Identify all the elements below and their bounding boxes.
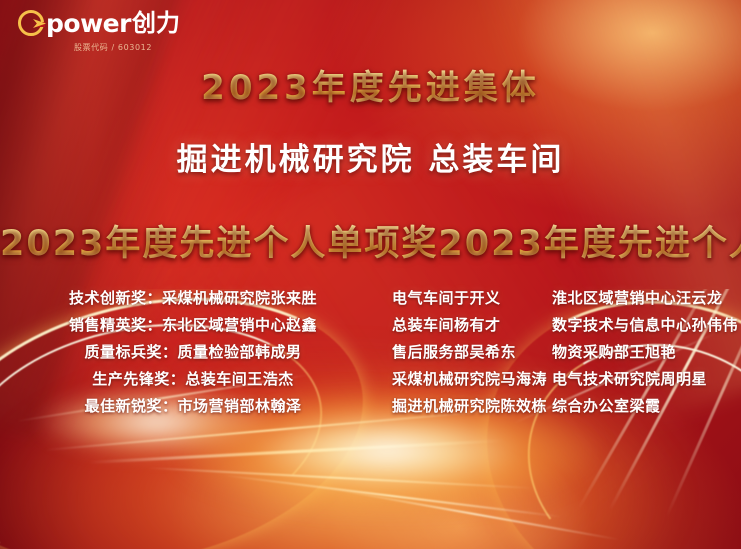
list-item: 技术创新奖：采煤机械研究院张来胜 [69,285,317,312]
page-subtitle: 掘进机械研究院 总装车间 [0,134,741,179]
list-item: 售后服务部吴希东 [392,339,552,366]
stock-code-label: 股票代码 / 603012 [18,42,208,53]
list-item: 掘进机械研究院陈效栋 [392,393,552,420]
page-title: 2023年度先进集体 [0,60,741,109]
list-row: 掘进机械研究院陈效栋 综合办公室梁霞 [392,393,741,420]
list-row: 总装车间杨有才 数字技术与信息中心孙伟伟 [392,312,741,339]
list-row: 电气车间于开义 淮北区域营销中心汪云龙 [392,285,741,312]
list-item: 物资采购部王旭艳 [552,339,741,366]
logo-wordmark: power [46,11,131,36]
list-item: 综合办公室梁霞 [552,393,741,420]
list-item: 生产先锋奖：总装车间王浩杰 [92,366,294,393]
list-item: 数字技术与信息中心孙伟伟 [552,312,741,339]
award-banner: power 创力 股票代码 / 603012 2023年度先进集体 掘进机械研究… [0,0,741,549]
list-item: 总装车间杨有才 [392,312,552,339]
list-item: 最佳新锐奖：市场营销部林翰泽 [84,393,301,420]
list-item: 销售精英奖：东北区域营销中心赵鑫 [69,312,317,339]
section-headings: 2023年度先进个人单项奖 2023年度先进个人 [0,215,741,266]
logo-chinese-name: 创力 [132,11,180,35]
section-heading-individual-special: 2023年度先进个人单项奖 [0,215,438,266]
list-item: 电气车间于开义 [392,285,552,312]
list-item: 采煤机械研究院马海涛 [392,366,552,393]
special-award-list: 技术创新奖：采煤机械研究院张来胜 销售精英奖：东北区域营销中心赵鑫 质量标兵奖：… [0,285,386,420]
c-power-logo-icon [18,10,44,36]
individual-award-list: 电气车间于开义 淮北区域营销中心汪云龙 总装车间杨有才 数字技术与信息中心孙伟伟… [386,285,741,420]
list-item: 淮北区域营销中心汪云龙 [552,285,741,312]
company-logo: power 创力 股票代码 / 603012 [18,10,228,53]
list-item: 电气技术研究院周明星 [552,366,741,393]
list-item: 质量标兵奖：质量检验部韩成男 [84,339,301,366]
logo-row: power 创力 [18,10,228,36]
section-heading-individual: 2023年度先进个人 [438,215,741,266]
list-row: 采煤机械研究院马海涛 电气技术研究院周明星 [392,366,741,393]
list-row: 售后服务部吴希东 物资采购部王旭艳 [392,339,741,366]
award-columns: 技术创新奖：采煤机械研究院张来胜 销售精英奖：东北区域营销中心赵鑫 质量标兵奖：… [0,285,741,420]
